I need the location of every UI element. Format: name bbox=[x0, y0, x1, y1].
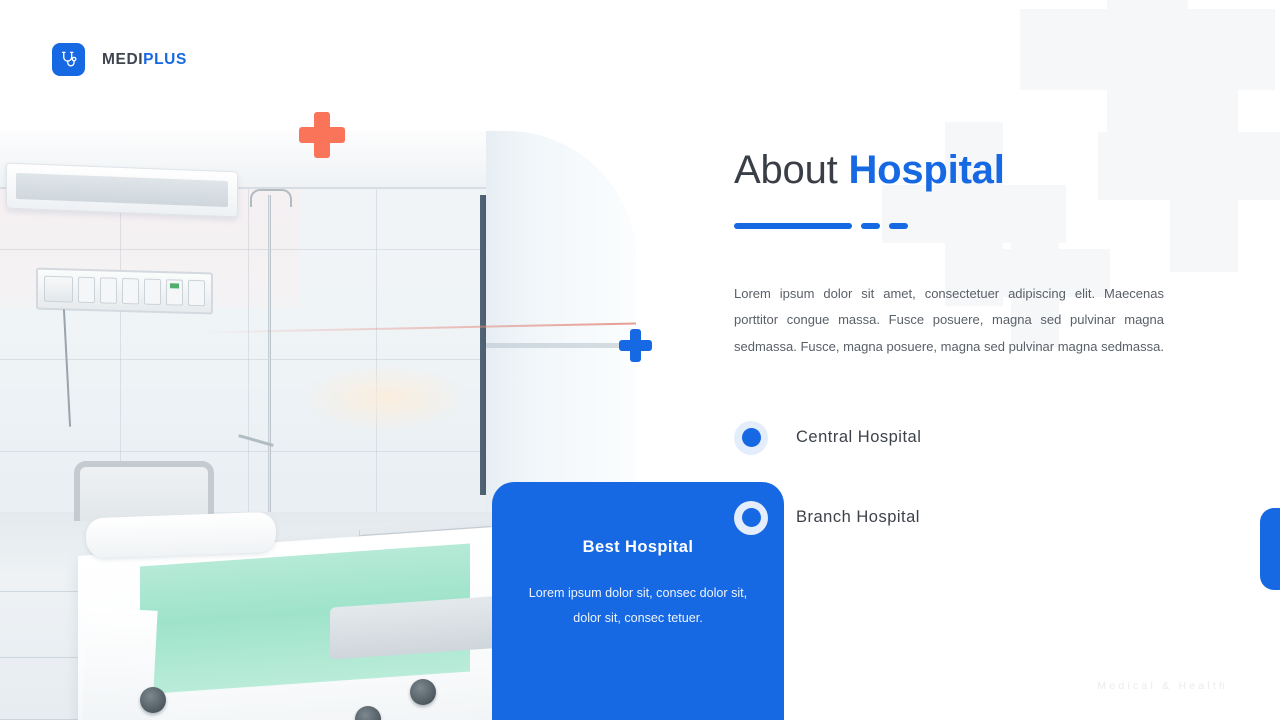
cross-blue-icon bbox=[619, 329, 652, 362]
content-column: About Hospital Lorem ipsum dolor sit ame… bbox=[734, 148, 1186, 581]
brand-logo[interactable]: MEDIPLUS bbox=[52, 43, 187, 76]
body-paragraph: Lorem ipsum dolor sit amet, consectetuer… bbox=[734, 281, 1164, 361]
footer-caption: Medical & Health bbox=[1097, 680, 1228, 692]
bed-headboard bbox=[74, 461, 214, 521]
divider-bar-long bbox=[734, 223, 852, 229]
title-divider bbox=[734, 223, 1186, 229]
slide-root: MEDIPLUS bbox=[0, 0, 1280, 720]
page-title: About Hospital bbox=[734, 148, 1186, 193]
stethoscope-icon bbox=[52, 43, 85, 76]
list-item[interactable]: Central Hospital bbox=[734, 421, 1186, 455]
brand-name-primary: MEDI bbox=[102, 51, 143, 68]
list-item-label: Branch Hospital bbox=[796, 508, 920, 527]
hospital-list: Central Hospital Branch Hospital bbox=[734, 421, 1186, 535]
panel-module bbox=[122, 278, 139, 304]
panel-module bbox=[44, 276, 73, 303]
wall-grout-line bbox=[376, 189, 377, 519]
panel-module bbox=[100, 277, 117, 303]
brand-name-accent: PLUS bbox=[143, 51, 187, 68]
brand-name: MEDIPLUS bbox=[102, 52, 187, 68]
edge-accent-pill bbox=[1260, 508, 1280, 590]
card-body: Lorem ipsum dolor sit, consec dolor sit,… bbox=[526, 581, 750, 631]
list-item-label: Central Hospital bbox=[796, 428, 921, 447]
cross-orange-icon bbox=[299, 112, 345, 158]
bed-pillow bbox=[85, 512, 276, 559]
page-title-bold: Hospital bbox=[848, 148, 1004, 192]
bullet-dot-icon bbox=[734, 421, 768, 455]
light-flare bbox=[300, 363, 470, 433]
iv-pole-hook bbox=[250, 189, 292, 207]
page-title-plain: About bbox=[734, 148, 848, 192]
overhead-light-fixture bbox=[6, 163, 238, 218]
bed-caster-wheel bbox=[140, 687, 166, 713]
card-title: Best Hospital bbox=[526, 538, 750, 557]
divider-bar-short bbox=[889, 223, 908, 229]
medical-gas-panel bbox=[36, 268, 213, 315]
panel-module bbox=[78, 277, 95, 303]
bed-caster-wheel bbox=[410, 679, 436, 705]
bullet-dot-icon bbox=[734, 501, 768, 535]
list-item[interactable]: Branch Hospital bbox=[734, 501, 1186, 535]
panel-module bbox=[144, 279, 161, 305]
wall-grout-line bbox=[248, 189, 249, 519]
divider-bar-mid bbox=[861, 223, 880, 229]
panel-module bbox=[166, 279, 183, 305]
panel-module bbox=[188, 280, 205, 306]
iv-pole bbox=[268, 195, 271, 525]
